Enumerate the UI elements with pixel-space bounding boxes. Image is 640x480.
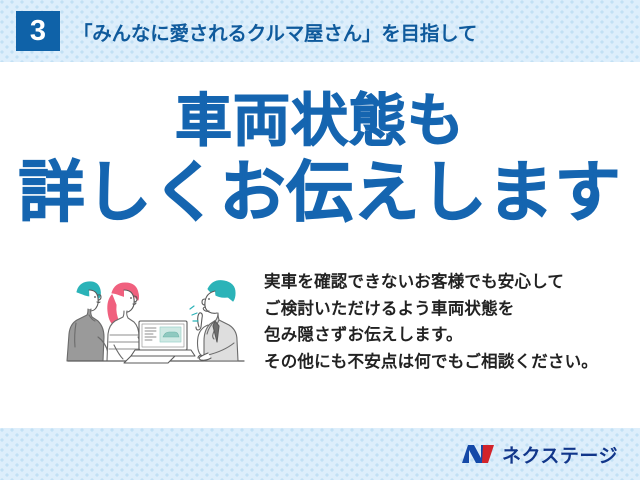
header-title: 「みんなに愛されるクルマ屋さん」を目指して [73, 17, 477, 46]
body-line-2: ご検討いただけるよう車両状態を [264, 296, 632, 323]
nextage-n-logo-icon [461, 442, 495, 466]
content-panel: 車両状態も 詳しくお伝えします [0, 62, 640, 428]
footer-band: ネクステージ [0, 428, 640, 480]
body-line-4: その他にも不安点は何でもご相談ください。 [264, 349, 632, 376]
content-row: 実車を確認できないお客様でも安心して ご検討いただけるよう車両状態を 包み隠さず… [0, 267, 640, 417]
consultation-illustration-svg [52, 265, 258, 385]
brand-name: ネクステージ [502, 441, 618, 468]
logo-red-part [482, 445, 494, 463]
laptop [131, 321, 195, 356]
consultation-illustration [52, 265, 258, 385]
headline: 車両状態も 詳しくお伝えします [0, 92, 640, 227]
header-band: 3 「みんなに愛されるクルマ屋さん」を目指して [0, 0, 640, 62]
body-line-3: 包み隠さずお伝えします。 [264, 322, 632, 349]
body-paragraph: 実車を確認できないお客様でも安心して ご検討いただけるよう車両状態を 包み隠さず… [264, 269, 632, 376]
brand-lockup: ネクステージ [461, 441, 618, 468]
section-number-badge: 3 [16, 11, 60, 51]
body-line-1: 実車を確認できないお客様でも安心して [264, 269, 632, 296]
headline-line-2: 詳しくお伝えします [0, 158, 640, 227]
slide-root: 3 「みんなに愛されるクルマ屋さん」を目指して 車両状態も 詳しくお伝えします [0, 0, 640, 480]
headline-line-1: 車両状態も [0, 92, 640, 152]
